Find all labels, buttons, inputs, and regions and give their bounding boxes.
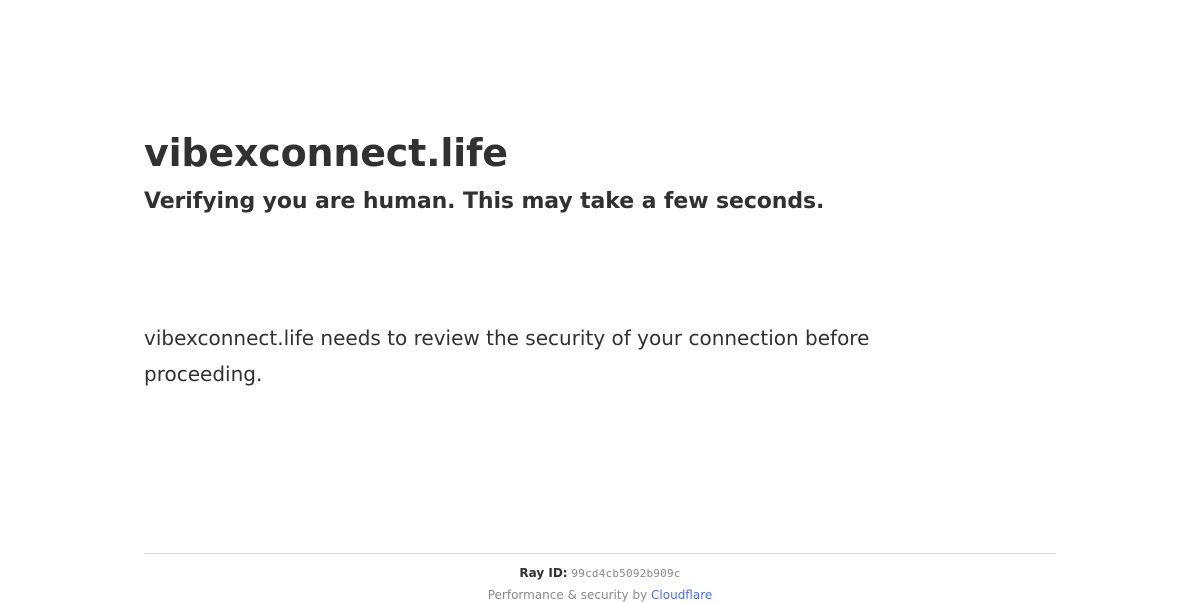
footer-content: Ray ID: 99cd4cb5092b909c Performance & s… <box>144 554 1056 603</box>
challenge-content: vibexconnect.life Verifying you are huma… <box>144 0 1056 392</box>
challenge-page: vibexconnect.life Verifying you are huma… <box>0 0 1200 600</box>
page-footer: Ray ID: 99cd4cb5092b909c Performance & s… <box>144 553 1056 603</box>
ray-id-value: 99cd4cb5092b909c <box>571 567 680 580</box>
verification-status-heading: Verifying you are human. This may take a… <box>144 176 1056 216</box>
page-title: vibexconnect.life <box>144 0 1056 176</box>
challenge-description: vibexconnect.life needs to review the se… <box>144 310 944 392</box>
ray-id-line: Ray ID: 99cd4cb5092b909c <box>144 566 1056 581</box>
ray-id-label: Ray ID: <box>519 566 567 580</box>
turnstile-challenge-widget[interactable] <box>144 242 444 310</box>
